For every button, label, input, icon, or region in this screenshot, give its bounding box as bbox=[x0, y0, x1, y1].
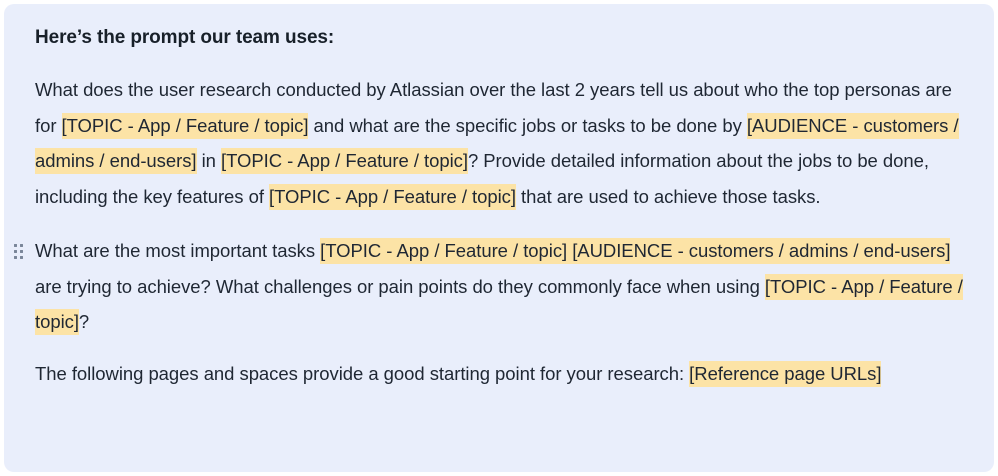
placeholder-highlight[interactable]: [TOPIC - App / Feature / topic] bbox=[221, 148, 468, 174]
paragraph-text: that are used to achieve those tasks. bbox=[516, 186, 821, 207]
paragraph-3: The following pages and spaces provide a… bbox=[35, 356, 970, 392]
paragraph-list: What does the user research conducted by… bbox=[35, 72, 970, 391]
page-title: Here’s the prompt our team uses: bbox=[35, 24, 970, 52]
paragraph-2: What are the most important tasks [TOPIC… bbox=[35, 233, 970, 340]
prompt-content: Here’s the prompt our team uses: What do… bbox=[35, 24, 970, 391]
placeholder-highlight[interactable]: [Reference page URLs] bbox=[689, 361, 881, 387]
paragraph-text: in bbox=[197, 150, 221, 171]
paragraph-text: What are the most important tasks bbox=[35, 240, 320, 261]
drag-handle-dot bbox=[14, 250, 17, 253]
paragraph-text: are trying to achieve? What challenges o… bbox=[35, 276, 765, 297]
placeholder-highlight[interactable]: [TOPIC - App / Feature / topic] bbox=[269, 184, 516, 210]
drag-handle-dot bbox=[20, 244, 23, 247]
prompt-panel: Here’s the prompt our team uses: What do… bbox=[4, 4, 994, 472]
paragraph-text: ? bbox=[79, 311, 89, 332]
drag-handle-dot bbox=[14, 256, 17, 259]
placeholder-highlight[interactable]: [TOPIC - App / Feature / topic] bbox=[62, 113, 309, 139]
paragraph-1: What does the user research conducted by… bbox=[35, 72, 970, 214]
placeholder-highlight[interactable]: [TOPIC - App / Feature / topic] [AUDIENC… bbox=[320, 238, 950, 264]
drag-handle-dot bbox=[20, 250, 23, 253]
drag-handle-icon[interactable] bbox=[14, 244, 25, 259]
paragraph-text: and what are the specific jobs or tasks … bbox=[308, 115, 746, 136]
drag-handle-dot bbox=[14, 244, 17, 247]
drag-handle-dot bbox=[20, 256, 23, 259]
paragraph-text: The following pages and spaces provide a… bbox=[35, 363, 689, 384]
